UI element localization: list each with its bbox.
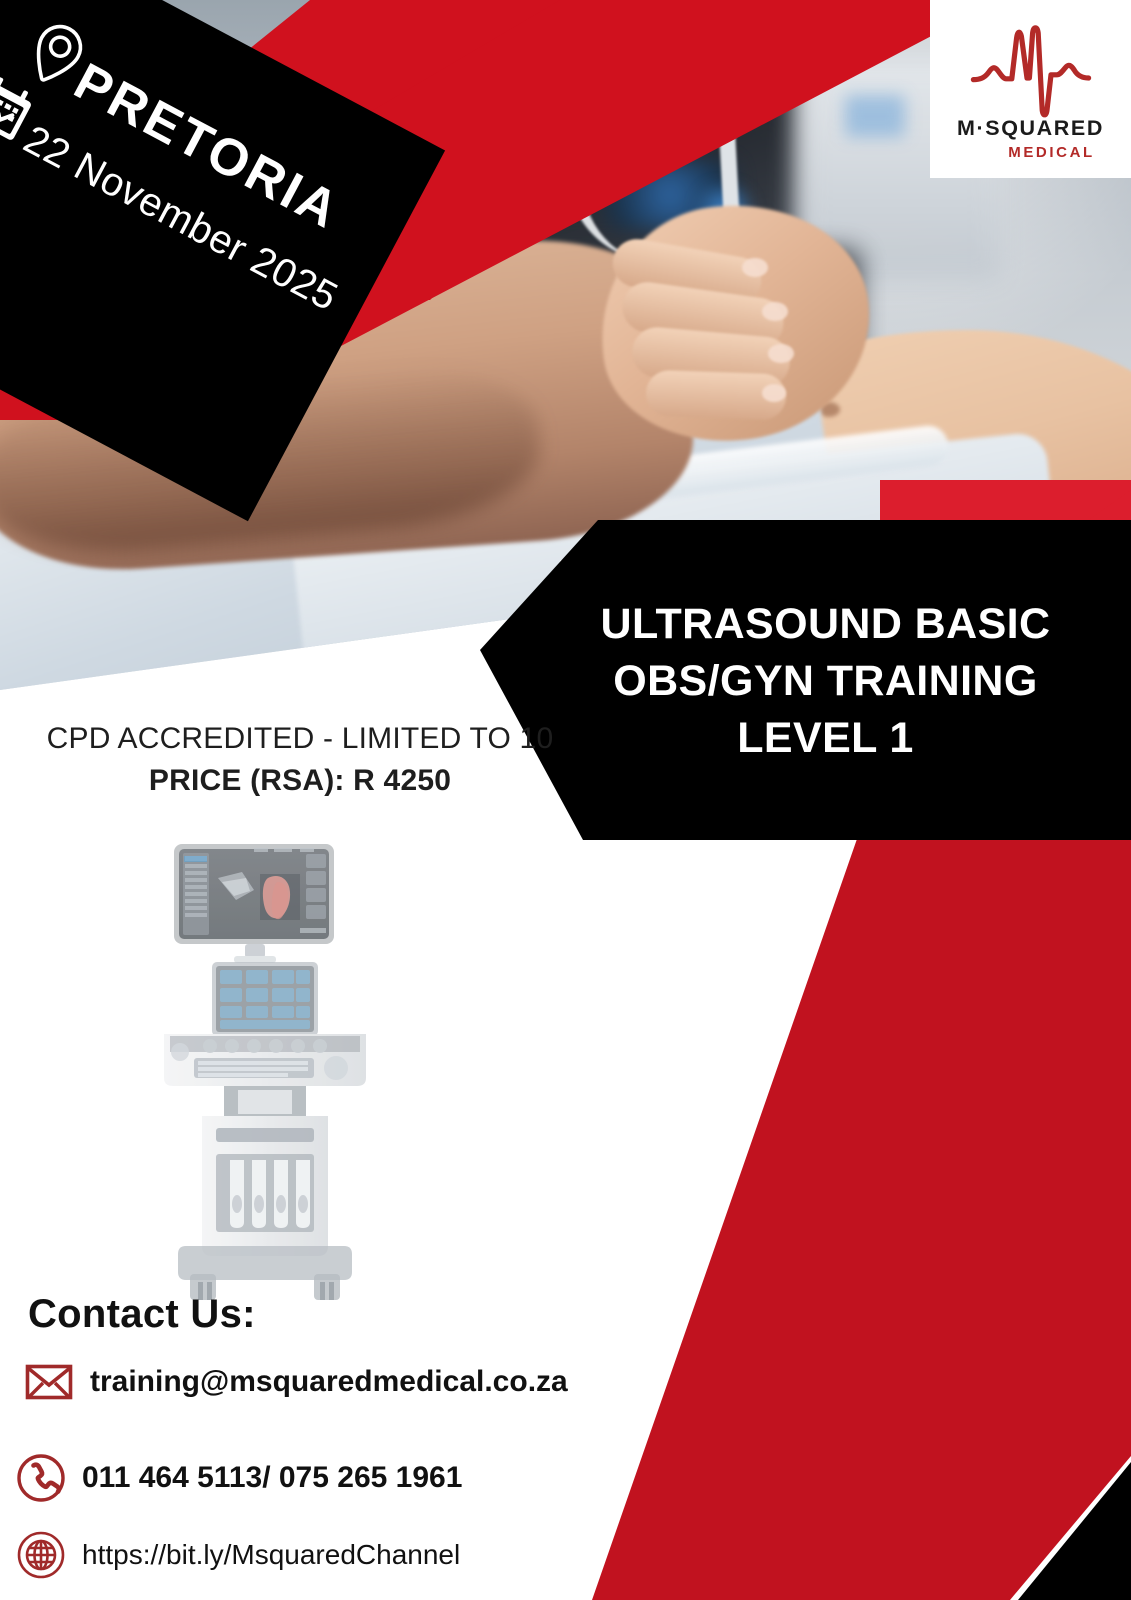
accreditation-text: CPD ACCREDITED - LIMITED TO 10 [0,722,600,756]
logo-subtext: MEDICAL [1008,144,1095,161]
phone-icon [14,1453,68,1503]
contact-phone-value: 011 464 5113/ 075 265 1961 [82,1461,462,1495]
course-meta: CPD ACCREDITED - LIMITED TO 10 PRICE (RS… [0,722,600,798]
price-text: PRICE (RSA): R 4250 [0,764,600,798]
photo-equipment-screen [845,95,905,137]
contact-row-phone[interactable]: 011 464 5113/ 075 265 1961 [14,1453,462,1503]
logo-wordmark: M·SQUARED [957,116,1104,141]
event-poster: PRETORIA 22 November 2025 M·SQ [0,0,1131,1600]
photo-fingernail [762,384,786,402]
ultrasound-machine-illustration [150,838,380,1308]
photo-fingernail [742,258,768,277]
globe-icon [14,1530,68,1580]
contact-website-value: https://bit.ly/MsquaredChannel [82,1539,460,1571]
photo-fingernail [768,344,794,363]
contact-heading: Contact Us: [28,1292,256,1337]
contact-email-value: training@msquaredmedical.co.za [90,1365,568,1399]
photo-fingernail [762,302,788,321]
contact-row-website[interactable]: https://bit.ly/MsquaredChannel [14,1530,460,1580]
contact-row-email[interactable]: training@msquaredmedical.co.za [22,1364,568,1400]
ecg-heartbeat-m-icon [967,18,1095,122]
brand-logo: M·SQUARED MEDICAL [930,0,1131,178]
envelope-icon [22,1364,76,1400]
